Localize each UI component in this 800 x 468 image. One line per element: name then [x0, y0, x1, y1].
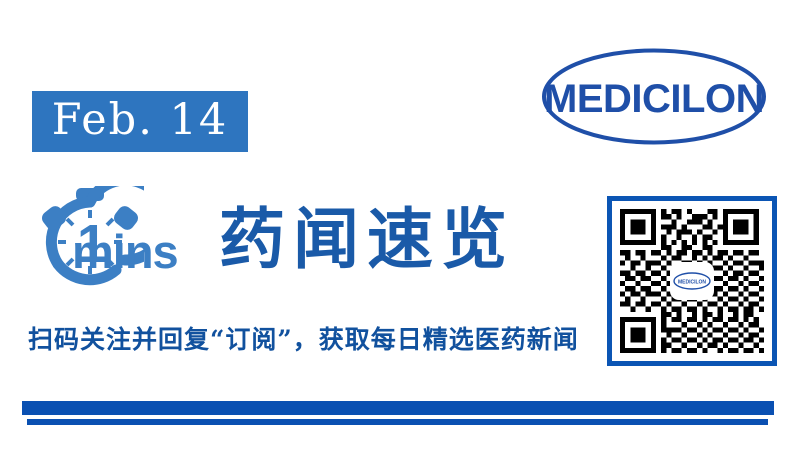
qr-code[interactable]: MEDICILON [620, 209, 764, 353]
svg-text:MEDICILON: MEDICILON [544, 77, 764, 121]
page-title: 药闻速览 [219, 206, 515, 272]
banner-canvas: Feb. 14 MEDICILON [0, 0, 800, 468]
date-badge-label: Feb. 14 [52, 99, 229, 142]
qr-code-panel[interactable]: MEDICILON [607, 196, 777, 366]
footer-rule-thick [22, 401, 774, 415]
svg-text:MEDICILON: MEDICILON [678, 280, 706, 286]
footer-rule-thin [27, 419, 768, 425]
mins-label: mins [72, 228, 178, 275]
date-badge: Feb. 14 [32, 91, 248, 152]
medicilon-logo: MEDICILON [540, 46, 768, 147]
subtitle: 扫码关注并回复“订阅”，获取每日精选医药新闻 [28, 325, 579, 355]
qr-center-logo: MEDICILON [672, 264, 712, 298]
